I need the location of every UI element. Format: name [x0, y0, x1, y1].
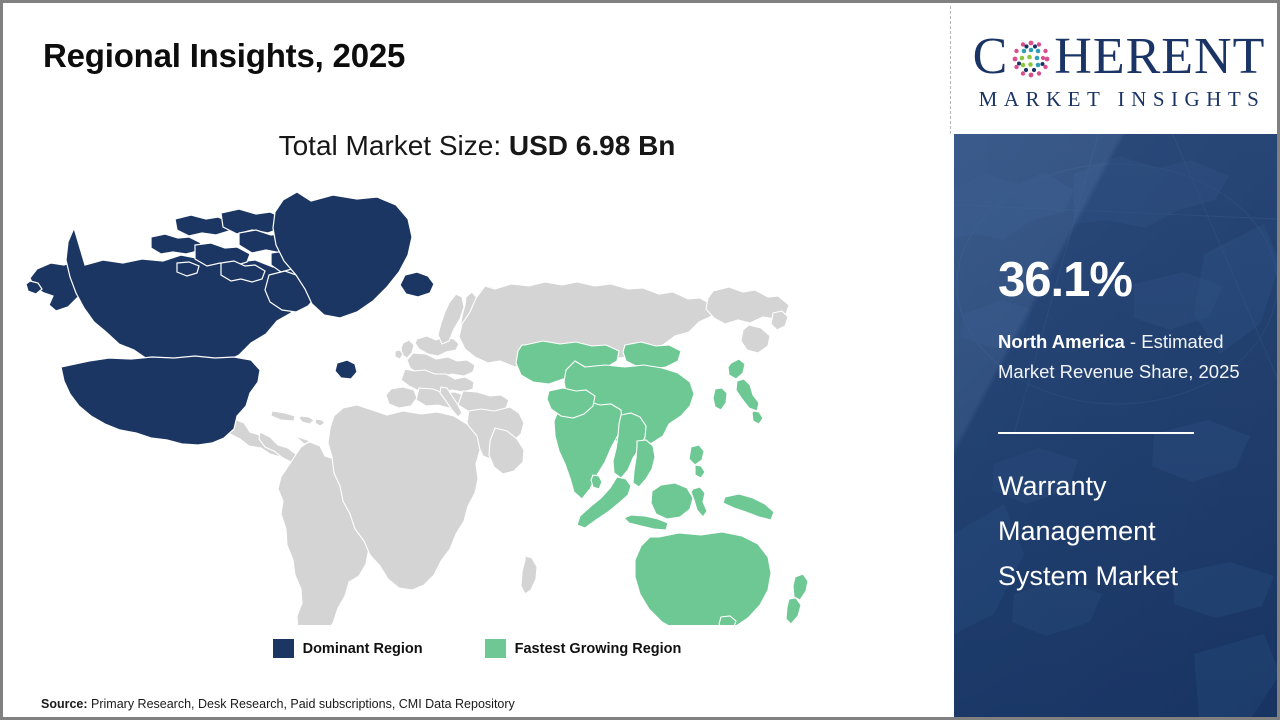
logo-tagline: MARKET INSIGHTS [973, 87, 1266, 112]
stat-panel: 36.1% North America - Estimated Market R… [954, 134, 1280, 720]
source-label: Source: [41, 697, 88, 711]
market-size-value: USD 6.98 Bn [509, 130, 676, 161]
logo-letter-c: C [973, 31, 1009, 83]
total-market-size: Total Market Size: USD 6.98 Bn [3, 130, 951, 162]
world-map [25, 185, 845, 625]
legend-label-fastest-growing: Fastest Growing Region [515, 641, 682, 657]
map-dominant-region-north-america [26, 192, 434, 445]
map-fastest-growing-region-asia-pacific [516, 341, 808, 625]
panel-divider-rule [998, 432, 1194, 434]
logo-word-herent: HERENT [1054, 31, 1265, 83]
source-text: Primary Research, Desk Research, Paid su… [88, 697, 515, 711]
dotted-globe-icon [1009, 37, 1053, 81]
legend-item-dominant: Dominant Region [273, 639, 423, 658]
dominant-region-swatch [273, 639, 294, 658]
vertical-divider [950, 6, 951, 134]
fastest-growing-region-swatch [485, 639, 506, 658]
page-title: Regional Insights, 2025 [43, 37, 405, 75]
slide-canvas: Regional Insights, 2025 Total Market Siz… [0, 0, 1280, 720]
stat-region-name: North America [998, 331, 1125, 352]
legend-item-fastest-growing: Fastest Growing Region [485, 639, 682, 658]
company-logo: C [958, 6, 1280, 134]
logo-wordmark: C [973, 29, 1266, 85]
left-content-panel: Regional Insights, 2025 Total Market Siz… [3, 3, 951, 717]
stat-panel-content: 36.1% North America - Estimated Market R… [954, 134, 1280, 720]
market-name: Warranty Management System Market [998, 464, 1248, 599]
source-note: Source: Primary Research, Desk Research,… [41, 697, 515, 711]
map-legend: Dominant Region Fastest Growing Region [3, 639, 951, 658]
stat-description: North America - Estimated Market Revenue… [998, 327, 1266, 387]
stat-value: 36.1% [998, 256, 1132, 305]
legend-label-dominant: Dominant Region [303, 641, 423, 657]
market-size-label: Total Market Size: [279, 130, 509, 161]
